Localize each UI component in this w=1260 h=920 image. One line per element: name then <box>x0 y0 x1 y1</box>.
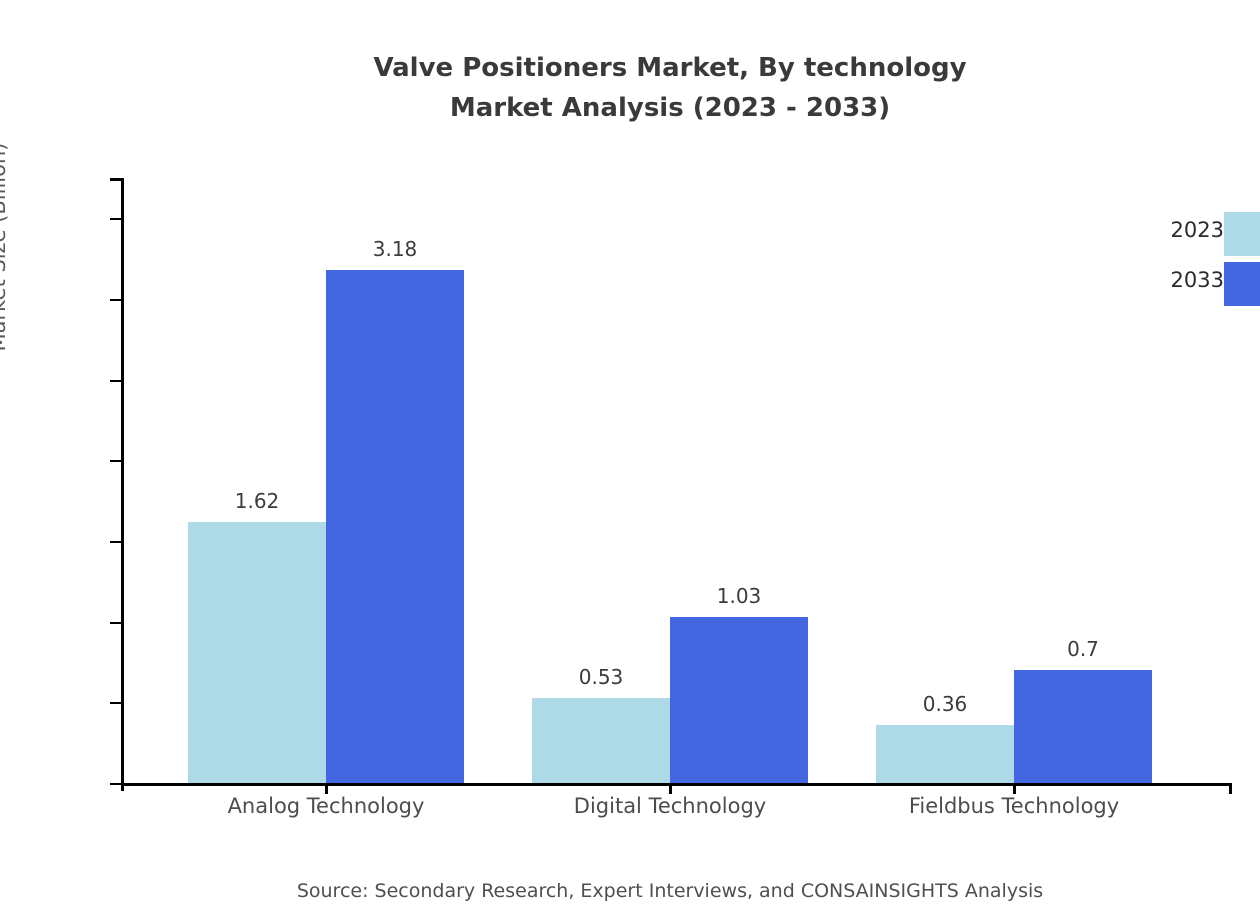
y-axis-tick-top <box>110 178 121 181</box>
chart-title-line-1: Valve Positioners Market, By technology <box>0 48 1260 88</box>
y-axis-tick-7 <box>110 218 121 220</box>
x-axis-tick-label-2: Fieldbus Technology <box>909 793 1119 819</box>
bar-label-2023-analog-technology: 1.62 <box>235 491 280 511</box>
bar-2023-fieldbus-technology <box>876 725 1014 783</box>
bar-label-2033-fieldbus-technology: 0.7 <box>1067 639 1099 659</box>
bar-label-2023-fieldbus-technology: 0.36 <box>923 694 968 714</box>
bar-2033-digital-technology <box>670 617 808 783</box>
y-axis-tick-2 <box>110 622 121 624</box>
y-axis-tick-4 <box>110 460 121 462</box>
y-axis-tick-6 <box>110 299 121 301</box>
plot-area: 0.0 0.5 1.0 1.5 2.0 2.5 3.0 3.5 Analog T… <box>121 178 1232 783</box>
legend-item-2023[interactable]: 2023 <box>1120 212 1260 256</box>
bar-2033-fieldbus-technology <box>1014 670 1152 783</box>
legend-swatch-2033-icon <box>1224 262 1260 306</box>
legend-label-2023: 2023 <box>1171 219 1224 241</box>
bar-2023-analog-technology <box>188 522 326 783</box>
bar-label-2033-analog-technology: 3.18 <box>373 239 418 259</box>
y-axis-spine <box>121 178 124 791</box>
chart-source-note: Source: Secondary Research, Expert Inter… <box>0 878 1260 904</box>
x-axis-tick-label-0: Analog Technology <box>228 793 425 819</box>
chart-title: Valve Positioners Market, By technology … <box>0 48 1260 128</box>
legend-item-2033[interactable]: 2033 <box>1120 262 1260 306</box>
x-axis-tick-right-end <box>1229 783 1232 794</box>
y-axis-tick-0 <box>110 783 121 785</box>
y-axis-label: Market Size (Billion) <box>0 0 10 747</box>
chart-legend: 2023 2033 <box>1120 212 1260 308</box>
legend-swatch-2023-icon <box>1224 212 1260 256</box>
x-axis-tick-label-1: Digital Technology <box>574 793 766 819</box>
chart-title-line-2: Market Analysis (2023 - 2033) <box>0 88 1260 128</box>
bar-2033-analog-technology <box>326 270 464 783</box>
y-axis-tick-1 <box>110 702 121 704</box>
y-axis-tick-5 <box>110 380 121 382</box>
bar-2023-digital-technology <box>532 698 670 784</box>
legend-label-2033: 2033 <box>1171 269 1224 291</box>
bar-label-2033-digital-technology: 1.03 <box>717 586 762 606</box>
x-axis-spine <box>121 783 1232 786</box>
chart-figure: Valve Positioners Market, By technology … <box>0 0 1260 920</box>
bar-label-2023-digital-technology: 0.53 <box>579 667 624 687</box>
y-axis-tick-3 <box>110 541 121 543</box>
